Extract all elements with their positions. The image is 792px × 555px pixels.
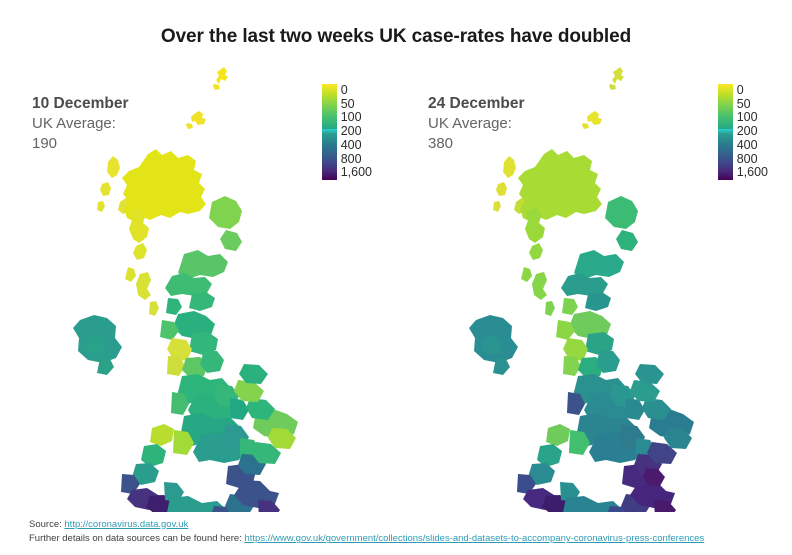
page-title: Over the last two weeks UK case-rates ha… <box>0 26 792 48</box>
panel-average-value: 380 <box>428 134 598 154</box>
legend-tick-labels: 0 50 100 200 400 800 1,600 <box>341 84 372 180</box>
panel-average-label: UK Average: <box>32 114 202 134</box>
footer: Source: http://coronavirus.data.gov.uk F… <box>29 518 704 547</box>
source-line: Source: http://coronavirus.data.gov.uk <box>29 518 704 533</box>
details-line: Further details on data sources can be f… <box>29 532 704 547</box>
source-label: Source: <box>29 519 62 530</box>
panel-date-label: 10 December <box>32 94 202 114</box>
legend-tick: 400 <box>341 139 372 153</box>
legend-tick: 50 <box>737 98 768 112</box>
legend-tick: 50 <box>341 98 372 112</box>
legend-tick: 100 <box>737 111 768 125</box>
legend-tick: 200 <box>737 125 768 139</box>
map-panel-10-december: 10 December UK Average: 190 0 50 100 200… <box>18 62 388 512</box>
panel-average-label: UK Average: <box>428 114 598 134</box>
legend-tick-labels: 0 50 100 200 400 800 1,600 <box>737 84 768 180</box>
legend-gradient-bar <box>322 84 337 180</box>
details-link[interactable]: https://www.gov.uk/government/collection… <box>244 533 704 544</box>
legend-right: 0 50 100 200 400 800 1,600 <box>718 84 768 180</box>
panel-caption-left: 10 December UK Average: 190 <box>32 94 202 153</box>
legend-tick: 200 <box>341 125 372 139</box>
legend-tick: 400 <box>737 139 768 153</box>
source-link[interactable]: http://coronavirus.data.gov.uk <box>64 519 188 530</box>
panel-average-value: 190 <box>32 134 202 154</box>
map-panel-24-december: 24 December UK Average: 380 0 50 100 200… <box>414 62 784 512</box>
panel-caption-right: 24 December UK Average: 380 <box>428 94 598 153</box>
legend-tick: 800 <box>737 153 768 167</box>
legend-tick: 0 <box>341 84 372 98</box>
legend-tick: 0 <box>737 84 768 98</box>
legend-tick: 100 <box>341 111 372 125</box>
legend-gradient-bar <box>718 84 733 180</box>
details-label: Further details on data sources can be f… <box>29 533 242 544</box>
legend-tick: 800 <box>341 153 372 167</box>
legend-tick: 1,600 <box>737 166 768 180</box>
panel-date-label: 24 December <box>428 94 598 114</box>
legend-tick: 1,600 <box>341 166 372 180</box>
legend-left: 0 50 100 200 400 800 1,600 <box>322 84 372 180</box>
